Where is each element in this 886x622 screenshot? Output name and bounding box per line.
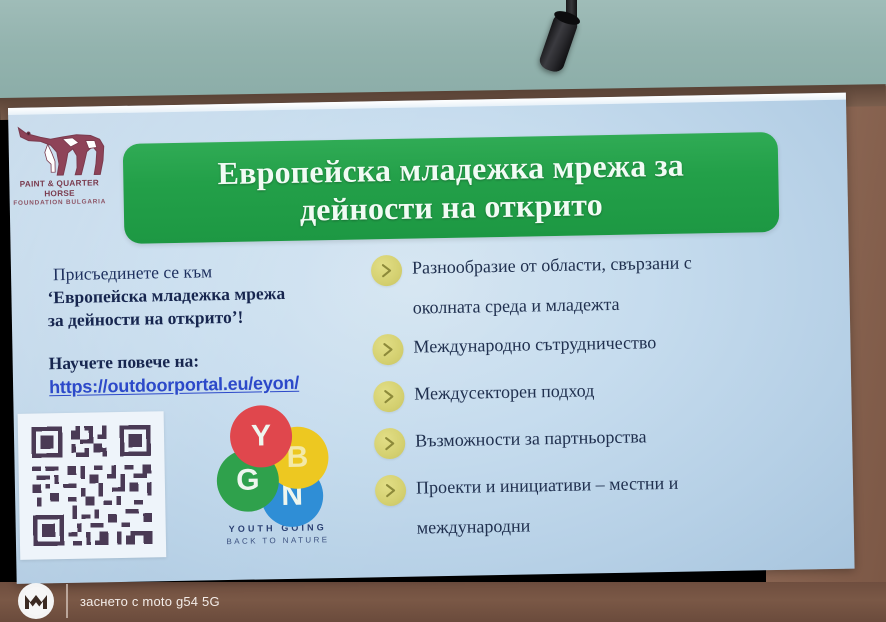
list-item: Междусекторен подход (373, 371, 814, 412)
join-line-3: за дейности на открито’! (48, 303, 368, 332)
foundation-logo: PAINT & QUARTER HORSE FOUNDATION BULGARI… (8, 118, 112, 202)
chevron-right-icon (373, 381, 405, 413)
watermark-caption: заснето с moto g54 5G (80, 594, 220, 609)
left-text-column: Присъединете се към ‘Европейска младежка… (47, 257, 369, 399)
chevron-right-icon (371, 255, 403, 287)
list-item: Международно сътрудничество (372, 324, 813, 365)
list-item-label: Международно сътрудничество (413, 327, 656, 358)
qr-code-panel[interactable] (18, 411, 167, 560)
ygn-caption-line2: BACK TO NATURE (214, 535, 342, 546)
foundation-name-line2: FOUNDATION BULGARIA (8, 198, 112, 208)
learn-more-label: Научете повече на: (48, 346, 368, 375)
horse-icon (8, 118, 111, 180)
slide-title-banner: Европейска младежка мрежа за дейности на… (123, 132, 780, 244)
slide-title: Европейска младежка мрежа за дейности на… (193, 145, 709, 230)
list-item-continuation: международни (417, 508, 816, 539)
list-item-label: Възможности за партньорства (415, 421, 647, 452)
camera-watermark: заснето с moto g54 5G (18, 582, 220, 620)
foundation-name-line1: PAINT & QUARTER HORSE (8, 178, 112, 200)
list-item: Проекти и инициативи – местни и (375, 465, 816, 506)
list-item: Възможности за партньорства (374, 418, 815, 459)
slide-title-line1: Европейска младежка мрежа за (217, 147, 684, 192)
chevron-right-icon (375, 475, 407, 507)
ygn-circles: Y B G N (212, 404, 342, 518)
chevron-right-icon (372, 334, 404, 366)
chevron-right-icon (374, 428, 406, 460)
list-item-continuation: околната среда и младежта (413, 288, 812, 319)
qr-code-icon[interactable] (27, 420, 157, 550)
photo-of-presentation-screen: PAINT & QUARTER HORSE FOUNDATION BULGARI… (0, 0, 886, 622)
portal-url-link[interactable]: https://outdoorportal.eu/eyon/ (49, 372, 299, 400)
motorola-logo-icon (18, 583, 54, 619)
projected-slide: PAINT & QUARTER HORSE FOUNDATION BULGARI… (8, 93, 855, 584)
list-item-label: Проекти и инициативи – местни и (416, 468, 679, 500)
list-item-label: Междусекторен подход (414, 375, 595, 405)
list-item: Разнообразие от области, свързани с (371, 245, 812, 286)
watermark-divider (66, 584, 68, 618)
slide-title-line2: дейности на открито (300, 186, 604, 228)
ygn-logo: Y B G N YOUTH GOING BACK TO NATURE (212, 404, 343, 558)
bullet-list: Разнообразие от области, свързани с окол… (371, 245, 816, 552)
list-item-label: Разнообразие от области, свързани с (412, 247, 692, 279)
